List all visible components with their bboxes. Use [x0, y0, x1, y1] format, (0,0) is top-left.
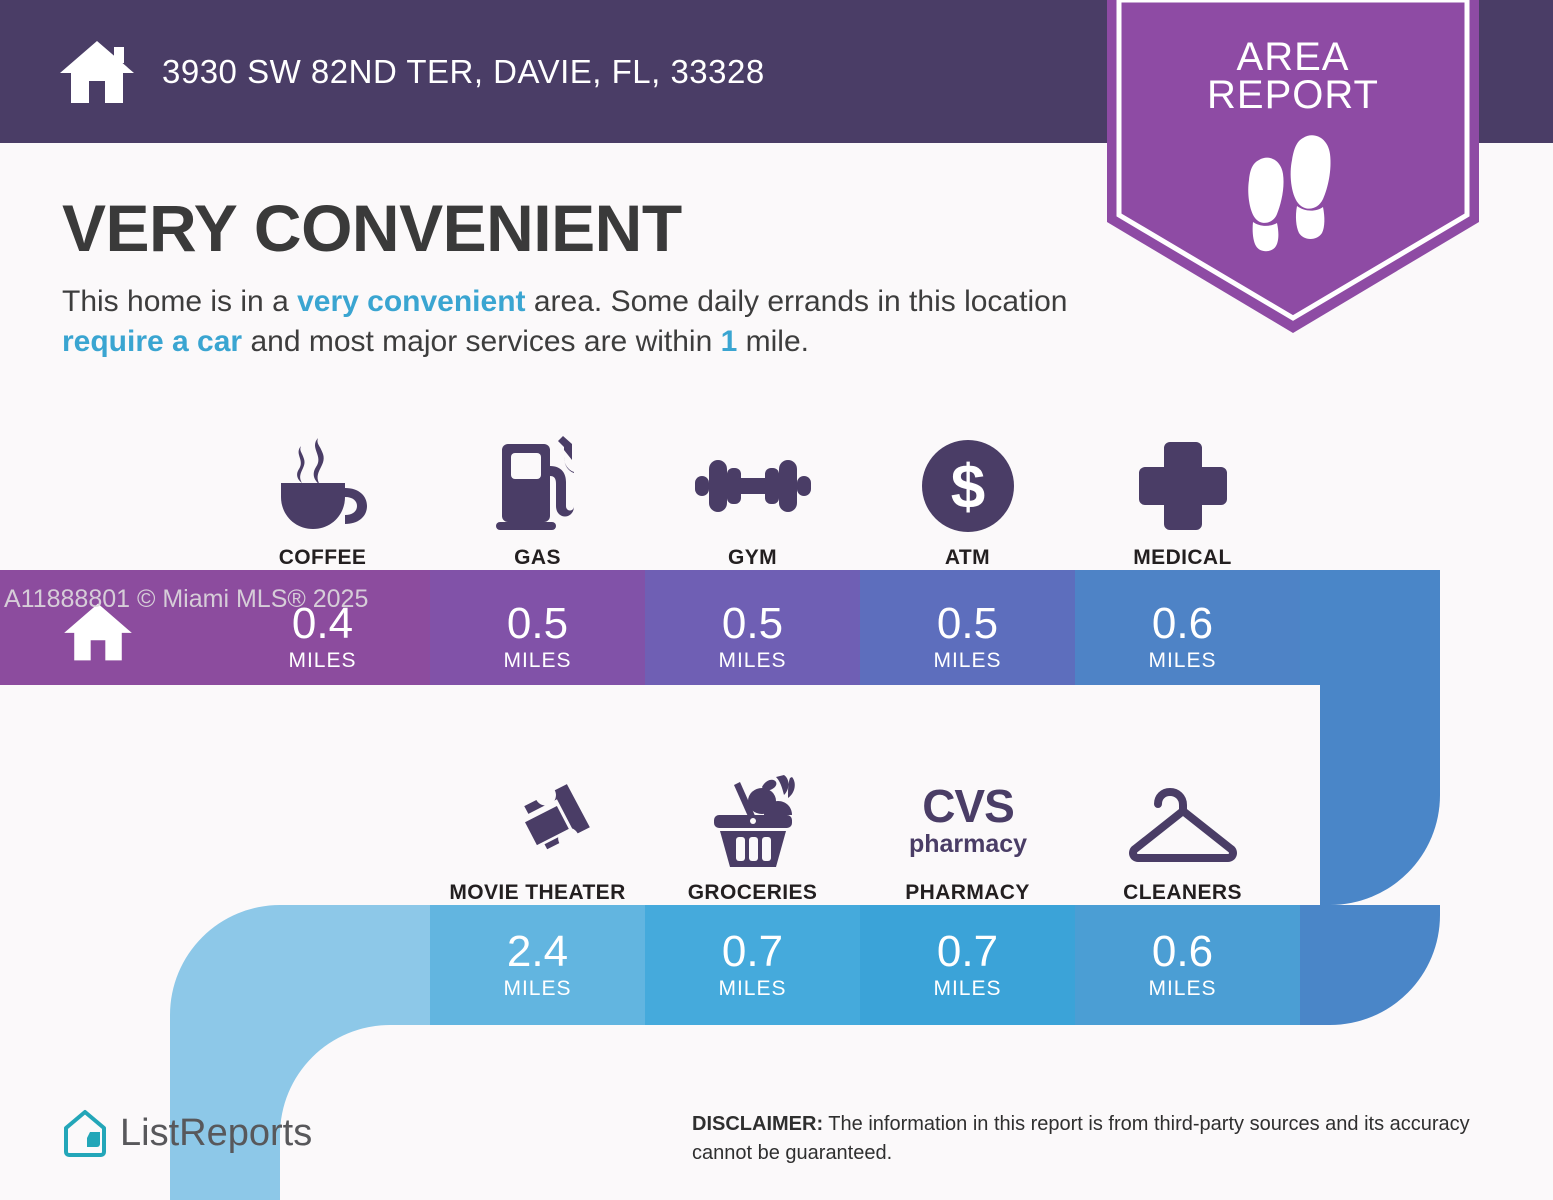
distance-value: 0.7 — [860, 930, 1075, 974]
clothes-hanger-icon — [1125, 768, 1241, 873]
desc-highlight-2: require a car — [62, 325, 242, 358]
grocery-basket-icon — [700, 768, 806, 873]
distance-unit: MILES — [645, 977, 860, 1001]
desc-part-2: area. Some daily errands in this locatio… — [526, 285, 1068, 318]
coffee-cup-icon — [271, 433, 375, 538]
row2-icons: MOVIE THEATER G — [0, 745, 1553, 905]
row1-icons: COFFEE GAS — [0, 410, 1553, 570]
category-atm: $ ATM — [860, 410, 1075, 570]
desc-part-3: and most major services are within — [242, 325, 721, 358]
cvs-pharmacy-logo: CVS pharmacy — [898, 768, 1038, 873]
svg-text:pharmacy: pharmacy — [908, 830, 1026, 858]
distance-unit: MILES — [430, 977, 645, 1001]
home-icon — [58, 37, 136, 107]
distance-atm: 0.5 MILES — [860, 602, 1075, 673]
distance-value: 0.6 — [1075, 602, 1290, 646]
distance-movie-theater: 2.4 MILES — [430, 930, 645, 1001]
distance-medical: 0.6 MILES — [1075, 602, 1290, 673]
distance-gas: 0.5 MILES — [430, 602, 645, 673]
category-gas: GAS — [430, 410, 645, 570]
distance-groceries: 0.7 MILES — [645, 930, 860, 1001]
desc-part-4: mile. — [737, 325, 809, 358]
distance-unit: MILES — [1075, 649, 1290, 673]
description-text: This home is in a very convenient area. … — [62, 282, 1102, 361]
distance-unit: MILES — [645, 649, 860, 673]
category-label: GAS — [514, 546, 561, 570]
distance-value: 0.5 — [430, 602, 645, 646]
page-title: VERY CONVENIENT — [62, 190, 682, 266]
category-label: CLEANERS — [1123, 881, 1242, 905]
category-label: MEDICAL — [1133, 546, 1231, 570]
svg-text:CVS: CVS — [922, 780, 1014, 832]
movie-ticket-icon — [485, 768, 591, 873]
category-coffee: COFFEE — [215, 410, 430, 570]
listreports-house-icon — [62, 1108, 108, 1158]
category-gym: GYM — [645, 410, 860, 570]
mls-watermark: A11888801 © Miami MLS® 2025 — [4, 585, 368, 614]
dumbbell-icon — [695, 433, 811, 538]
distance-unit: MILES — [215, 649, 430, 673]
category-medical: MEDICAL — [1075, 410, 1290, 570]
distance-cleaners: 0.6 MILES — [1075, 930, 1290, 1001]
disclaimer-label: DISCLAIMER: — [692, 1113, 823, 1135]
distance-unit: MILES — [860, 977, 1075, 1001]
distance-unit: MILES — [430, 649, 645, 673]
desc-highlight-1: very convenient — [297, 285, 525, 318]
distance-pharmacy: 0.7 MILES — [860, 930, 1075, 1001]
disclaimer-text: DISCLAIMER: The information in this repo… — [692, 1110, 1492, 1168]
gas-pump-icon — [488, 433, 588, 538]
category-groceries: GROCERIES — [645, 745, 860, 905]
category-label: PHARMACY — [905, 881, 1030, 905]
distance-value: 0.5 — [645, 602, 860, 646]
distance-value: 0.6 — [1075, 930, 1290, 974]
category-cleaners: CLEANERS — [1075, 745, 1290, 905]
category-movie-theater: MOVIE THEATER — [430, 745, 645, 905]
distance-value: 0.5 — [860, 602, 1075, 646]
category-label: MOVIE THEATER — [449, 881, 625, 905]
medical-cross-icon — [1137, 433, 1229, 538]
dollar-circle-icon: $ — [920, 433, 1016, 538]
desc-highlight-3: 1 — [721, 325, 738, 358]
category-label: COFFEE — [279, 546, 367, 570]
distance-unit: MILES — [1075, 977, 1290, 1001]
property-address: 3930 SW 82ND TER, DAVIE, FL, 33328 — [162, 53, 765, 91]
category-label: GROCERIES — [688, 881, 818, 905]
svg-text:$: $ — [950, 453, 984, 522]
distance-gym: 0.5 MILES — [645, 602, 860, 673]
category-label: GYM — [728, 546, 777, 570]
listreports-logo: ListReports — [62, 1108, 312, 1158]
listreports-wordmark: ListReports — [120, 1112, 312, 1155]
distance-value: 2.4 — [430, 930, 645, 974]
distance-value: 0.7 — [645, 930, 860, 974]
distance-unit: MILES — [860, 649, 1075, 673]
desc-part-1: This home is in a — [62, 285, 297, 318]
category-pharmacy: CVS pharmacy PHARMACY — [860, 745, 1075, 905]
area-report-badge: AREA REPORT — [1107, 0, 1479, 333]
category-label: ATM — [945, 546, 990, 570]
